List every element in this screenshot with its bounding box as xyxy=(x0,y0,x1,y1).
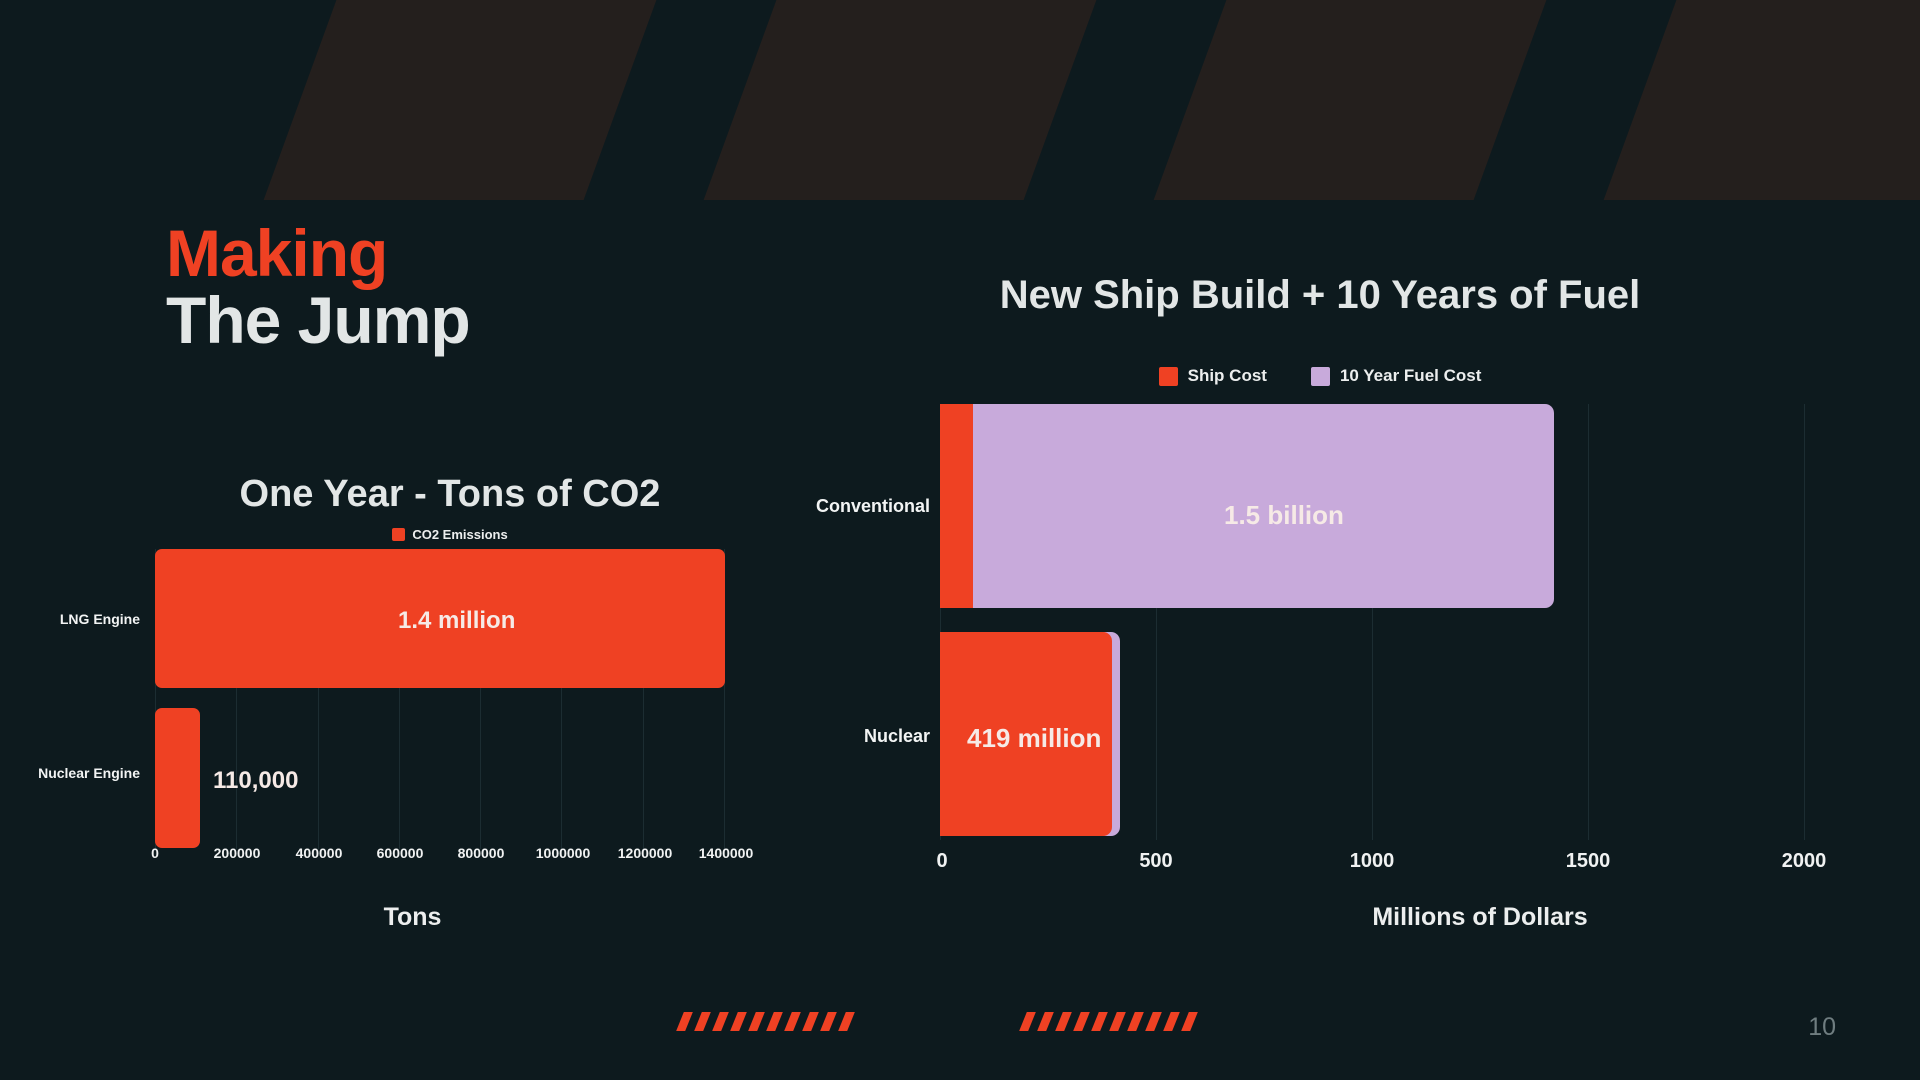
x-tick-label: 0 xyxy=(936,850,947,873)
bar-nuclear-engine[interactable] xyxy=(155,708,200,848)
page-number: 10 xyxy=(1808,1013,1836,1042)
x-tick-label: 1200000 xyxy=(618,845,673,861)
bar-value-nuclear-engine: 110,000 xyxy=(213,767,298,795)
dash-mark xyxy=(820,1012,837,1031)
dash-mark xyxy=(1091,1012,1108,1031)
headline-line-1: Making xyxy=(166,222,470,285)
slide-headline: Making The Jump xyxy=(166,222,470,356)
category-label-nuclear: Nuclear xyxy=(740,726,930,747)
legend-item[interactable]: CO2 Emissions xyxy=(392,527,507,542)
category-label-lng-engine: LNG Engine xyxy=(0,611,140,627)
footer-dash-group-left xyxy=(680,1012,860,1031)
headline-line-2: The Jump xyxy=(166,285,470,356)
legend-label: CO2 Emissions xyxy=(412,527,507,542)
dash-mark xyxy=(1055,1012,1072,1031)
band-slant-shape xyxy=(260,0,660,200)
x-tick-label: 500 xyxy=(1139,850,1172,873)
dash-mark xyxy=(748,1012,765,1031)
band-slant-shape xyxy=(700,0,1100,200)
chart-title: New Ship Build + 10 Years of Fuel xyxy=(820,273,1820,318)
x-tick-label: 0 xyxy=(151,845,159,861)
dash-mark xyxy=(838,1012,855,1031)
dash-mark xyxy=(1019,1012,1036,1031)
dash-mark xyxy=(712,1012,729,1031)
x-tick-label: 600000 xyxy=(377,845,424,861)
legend-swatch-icon xyxy=(1159,367,1178,386)
plot-area xyxy=(155,549,723,849)
top-decorative-band xyxy=(0,0,1920,200)
gridline xyxy=(1804,404,1805,840)
dash-mark xyxy=(1145,1012,1162,1031)
x-tick-label: 400000 xyxy=(296,845,343,861)
x-tick-label: 2000 xyxy=(1782,850,1827,873)
chart-legend: CO2 Emissions xyxy=(170,527,730,542)
bar-value-nuclear: 419 million xyxy=(967,723,1101,754)
dash-mark xyxy=(1073,1012,1090,1031)
dash-mark xyxy=(1163,1012,1180,1031)
plot-area xyxy=(940,404,1820,840)
band-slant-shape xyxy=(1600,0,1920,200)
x-tick-label: 1000 xyxy=(1350,850,1395,873)
dash-mark xyxy=(1109,1012,1126,1031)
category-label-conventional: Conventional xyxy=(740,496,930,517)
category-label-nuclear-engine: Nuclear Engine xyxy=(0,765,140,781)
dash-mark xyxy=(1181,1012,1198,1031)
legend-swatch-icon xyxy=(1311,367,1330,386)
dash-mark xyxy=(730,1012,747,1031)
dash-mark xyxy=(802,1012,819,1031)
x-tick-label: 1000000 xyxy=(536,845,591,861)
x-axis-title: Tons xyxy=(275,903,550,932)
dash-mark xyxy=(766,1012,783,1031)
x-tick-label: 200000 xyxy=(214,845,261,861)
dash-mark xyxy=(784,1012,801,1031)
dash-mark xyxy=(694,1012,711,1031)
footer-dash-group-right xyxy=(1023,1012,1203,1031)
x-tick-label: 800000 xyxy=(458,845,505,861)
band-slant-shape xyxy=(1150,0,1550,200)
legend-swatch-icon xyxy=(392,528,405,541)
legend-item[interactable]: 10 Year Fuel Cost xyxy=(1311,366,1481,386)
legend-item[interactable]: Ship Cost xyxy=(1159,366,1267,386)
chart-title: One Year - Tons of CO2 xyxy=(170,473,730,516)
chart-legend: Ship Cost 10 Year Fuel Cost xyxy=(820,366,1820,386)
bar-value-lng-engine: 1.4 million xyxy=(398,607,515,635)
bar-value-conventional: 1.5 billion xyxy=(1224,500,1344,531)
x-tick-label: 1400000 xyxy=(699,845,754,861)
x-tick-label: 1500 xyxy=(1566,850,1611,873)
x-axis-title: Millions of Dollars xyxy=(1230,903,1730,932)
legend-label: Ship Cost xyxy=(1188,366,1267,386)
gridline xyxy=(1588,404,1589,840)
dash-mark xyxy=(1037,1012,1054,1031)
dash-mark xyxy=(1127,1012,1144,1031)
legend-label: 10 Year Fuel Cost xyxy=(1340,366,1481,386)
bar-conventional-ship-cost[interactable] xyxy=(940,404,973,608)
dash-mark xyxy=(676,1012,693,1031)
